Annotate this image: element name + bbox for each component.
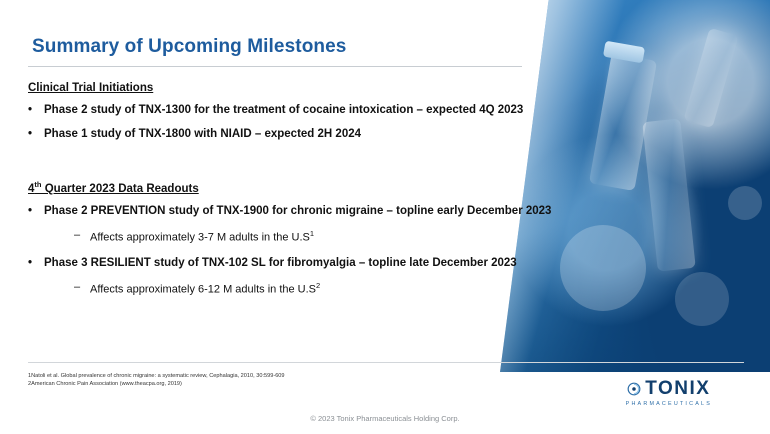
bullet-marker: • xyxy=(28,104,44,116)
page-title: Summary of Upcoming Milestones xyxy=(32,36,346,58)
section-spacer xyxy=(28,166,644,180)
section-spacer xyxy=(28,152,644,166)
section-heading-ordinal: th xyxy=(34,180,41,189)
bullet-text: Phase 2 study of TNX-1300 for the treatm… xyxy=(44,104,523,116)
sub-bullet-body: Affects approximately 6-12 M adults in t… xyxy=(90,284,316,296)
bullet-item: • Phase 2 study of TNX-1300 for the trea… xyxy=(28,104,644,116)
section-q4-2023-data-readouts: 4th Quarter 2023 Data Readouts • Phase 2… xyxy=(28,180,644,296)
company-logo: TONIX PHARMACEUTICALS xyxy=(626,378,712,407)
copyright-text: © 2023 Tonix Pharmaceuticals Holding Cor… xyxy=(0,414,770,423)
slide-body: Clinical Trial Initiations • Phase 2 stu… xyxy=(28,82,644,296)
sub-bullet-body: Affects approximately 3-7 M adults in th… xyxy=(90,231,310,243)
section-clinical-trial-initiations: Clinical Trial Initiations • Phase 2 stu… xyxy=(28,82,644,140)
sub-bullet-item: – Affects approximately 6-12 M adults in… xyxy=(74,281,644,296)
footer-divider xyxy=(28,362,744,363)
sub-bullet-marker: – xyxy=(74,229,90,244)
bullet-item: • Phase 3 RESILIENT study of TNX-102 SL … xyxy=(28,257,644,269)
bullet-text: Phase 1 study of TNX-1800 with NIAID – e… xyxy=(44,128,361,140)
sub-bullet-text: Affects approximately 3-7 M adults in th… xyxy=(90,229,314,244)
section-heading: 4th Quarter 2023 Data Readouts xyxy=(28,180,199,195)
footnotes: 1Natoli et al. Global prevalence of chro… xyxy=(28,372,285,389)
bullet-marker: • xyxy=(28,257,44,269)
title-divider xyxy=(28,66,522,67)
sub-bullet-item: – Affects approximately 3-7 M adults in … xyxy=(74,229,644,244)
bullet-marker: • xyxy=(28,205,44,217)
bullet-text: Phase 2 PREVENTION study of TNX-1900 for… xyxy=(44,205,551,217)
logo-row: TONIX xyxy=(626,378,712,400)
logo-subtitle: PHARMACEUTICALS xyxy=(626,401,712,407)
slide: Summary of Upcoming Milestones Clinical … xyxy=(0,0,770,434)
sub-bullet-marker: – xyxy=(74,281,90,296)
section-heading: Clinical Trial Initiations xyxy=(28,82,153,94)
tonix-mark-icon xyxy=(627,382,641,396)
page-number: 51 xyxy=(745,390,754,399)
footnote-2: 2American Chronic Pain Association (www.… xyxy=(28,380,285,388)
footnote-ref: 2 xyxy=(316,281,320,290)
bullet-marker: • xyxy=(28,128,44,140)
bullet-text: Phase 3 RESILIENT study of TNX-102 SL fo… xyxy=(44,257,517,269)
logo-wordmark: TONIX xyxy=(645,378,710,400)
footnote-ref: 1 xyxy=(310,229,314,238)
footnote-1: 1Natoli et al. Global prevalence of chro… xyxy=(28,372,285,380)
bullet-spacer xyxy=(28,243,644,257)
bullet-item: • Phase 1 study of TNX-1800 with NIAID –… xyxy=(28,128,644,140)
sub-bullet-text: Affects approximately 6-12 M adults in t… xyxy=(90,281,320,296)
page-title-text: Summary of Upcoming Milestones xyxy=(32,36,346,58)
section-heading-rest: Quarter 2023 Data Readouts xyxy=(42,183,199,195)
bullet-item: • Phase 2 PREVENTION study of TNX-1900 f… xyxy=(28,205,644,217)
